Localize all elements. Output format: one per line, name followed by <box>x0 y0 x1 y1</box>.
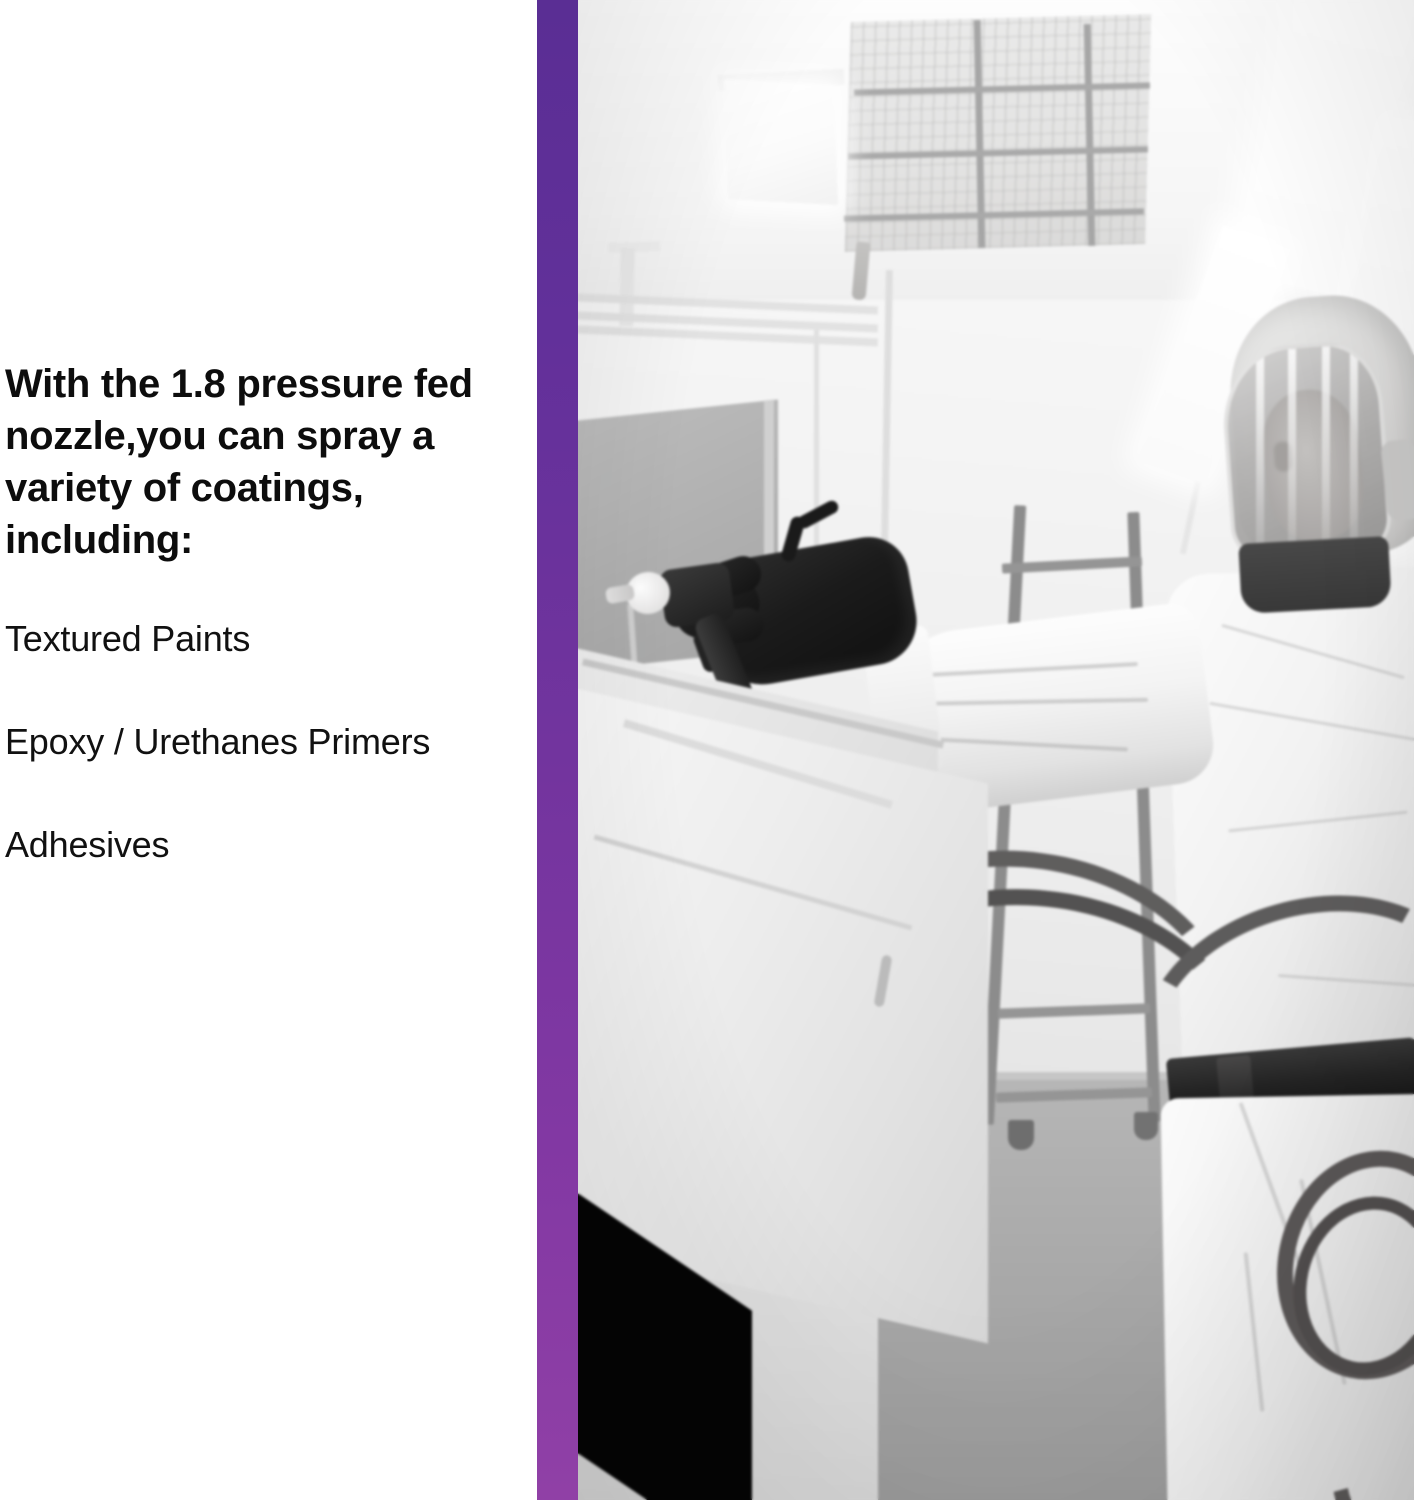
text-panel: With the 1.8 pressure fed nozzle,you can… <box>0 0 537 1500</box>
visor-reflection <box>1322 347 1330 557</box>
ceiling-light-panel <box>724 79 838 205</box>
spray-booth-photo <box>578 0 1414 1500</box>
list-item: Adhesives <box>5 822 505 869</box>
visor-reflection <box>1288 349 1296 559</box>
coating-list: Textured Paints Epoxy / Urethanes Primer… <box>5 616 505 868</box>
hood-neck-skirt <box>1238 536 1391 614</box>
purple-gradient-divider <box>537 0 578 1500</box>
feature-panel: With the 1.8 pressure fed nozzle,you can… <box>0 0 1414 1500</box>
visor-reflection <box>1256 351 1264 561</box>
belt-buckle <box>1216 1055 1254 1102</box>
list-item: Textured Paints <box>5 616 505 663</box>
visor-reflection <box>1350 345 1358 555</box>
text-stack: With the 1.8 pressure fed nozzle,you can… <box>5 358 505 868</box>
list-item: Epoxy / Urethanes Primers <box>5 719 505 766</box>
face-shield-icon <box>1219 339 1394 568</box>
page-title: With the 1.8 pressure fed nozzle,you can… <box>5 358 485 566</box>
